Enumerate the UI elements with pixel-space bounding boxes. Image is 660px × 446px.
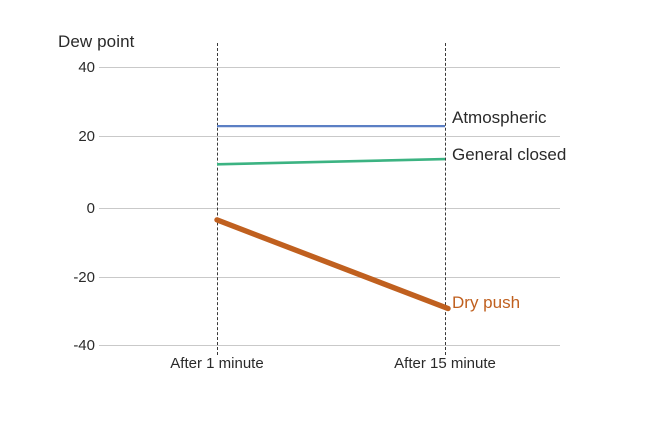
y-tick-label-20: 20 — [51, 129, 95, 144]
gridline-neg20 — [99, 277, 560, 278]
series-label-atmospheric: Atmospheric — [452, 108, 546, 128]
x-tick-label-after-15-minute: After 15 minute — [365, 355, 525, 373]
y-tick-label-40: 40 — [51, 60, 95, 75]
series-label-general-closed: General closed — [452, 145, 566, 165]
y-tick-label-neg20: -20 — [51, 270, 95, 285]
series-label-dry-push: Dry push — [452, 293, 520, 313]
y-tick-label-0: 0 — [51, 201, 95, 216]
gridline-20 — [99, 136, 560, 137]
gridline-neg40 — [99, 345, 560, 346]
y-tick-label-neg40: -40 — [51, 338, 95, 353]
chart-title: Dew point — [58, 31, 135, 52]
vertical-marker-after-15-minute — [445, 43, 446, 355]
vertical-marker-after-1-minute — [217, 43, 218, 355]
y-axis-tick-labels: 40 20 0 -20 -40 — [47, 67, 95, 345]
x-tick-label-after-1-minute: After 1 minute — [137, 355, 297, 373]
gridline-0 — [99, 208, 560, 209]
gridline-40 — [99, 67, 560, 68]
dew-point-line-chart: Dew point 40 20 0 -20 -40 Atmospheric Ge… — [0, 0, 660, 446]
